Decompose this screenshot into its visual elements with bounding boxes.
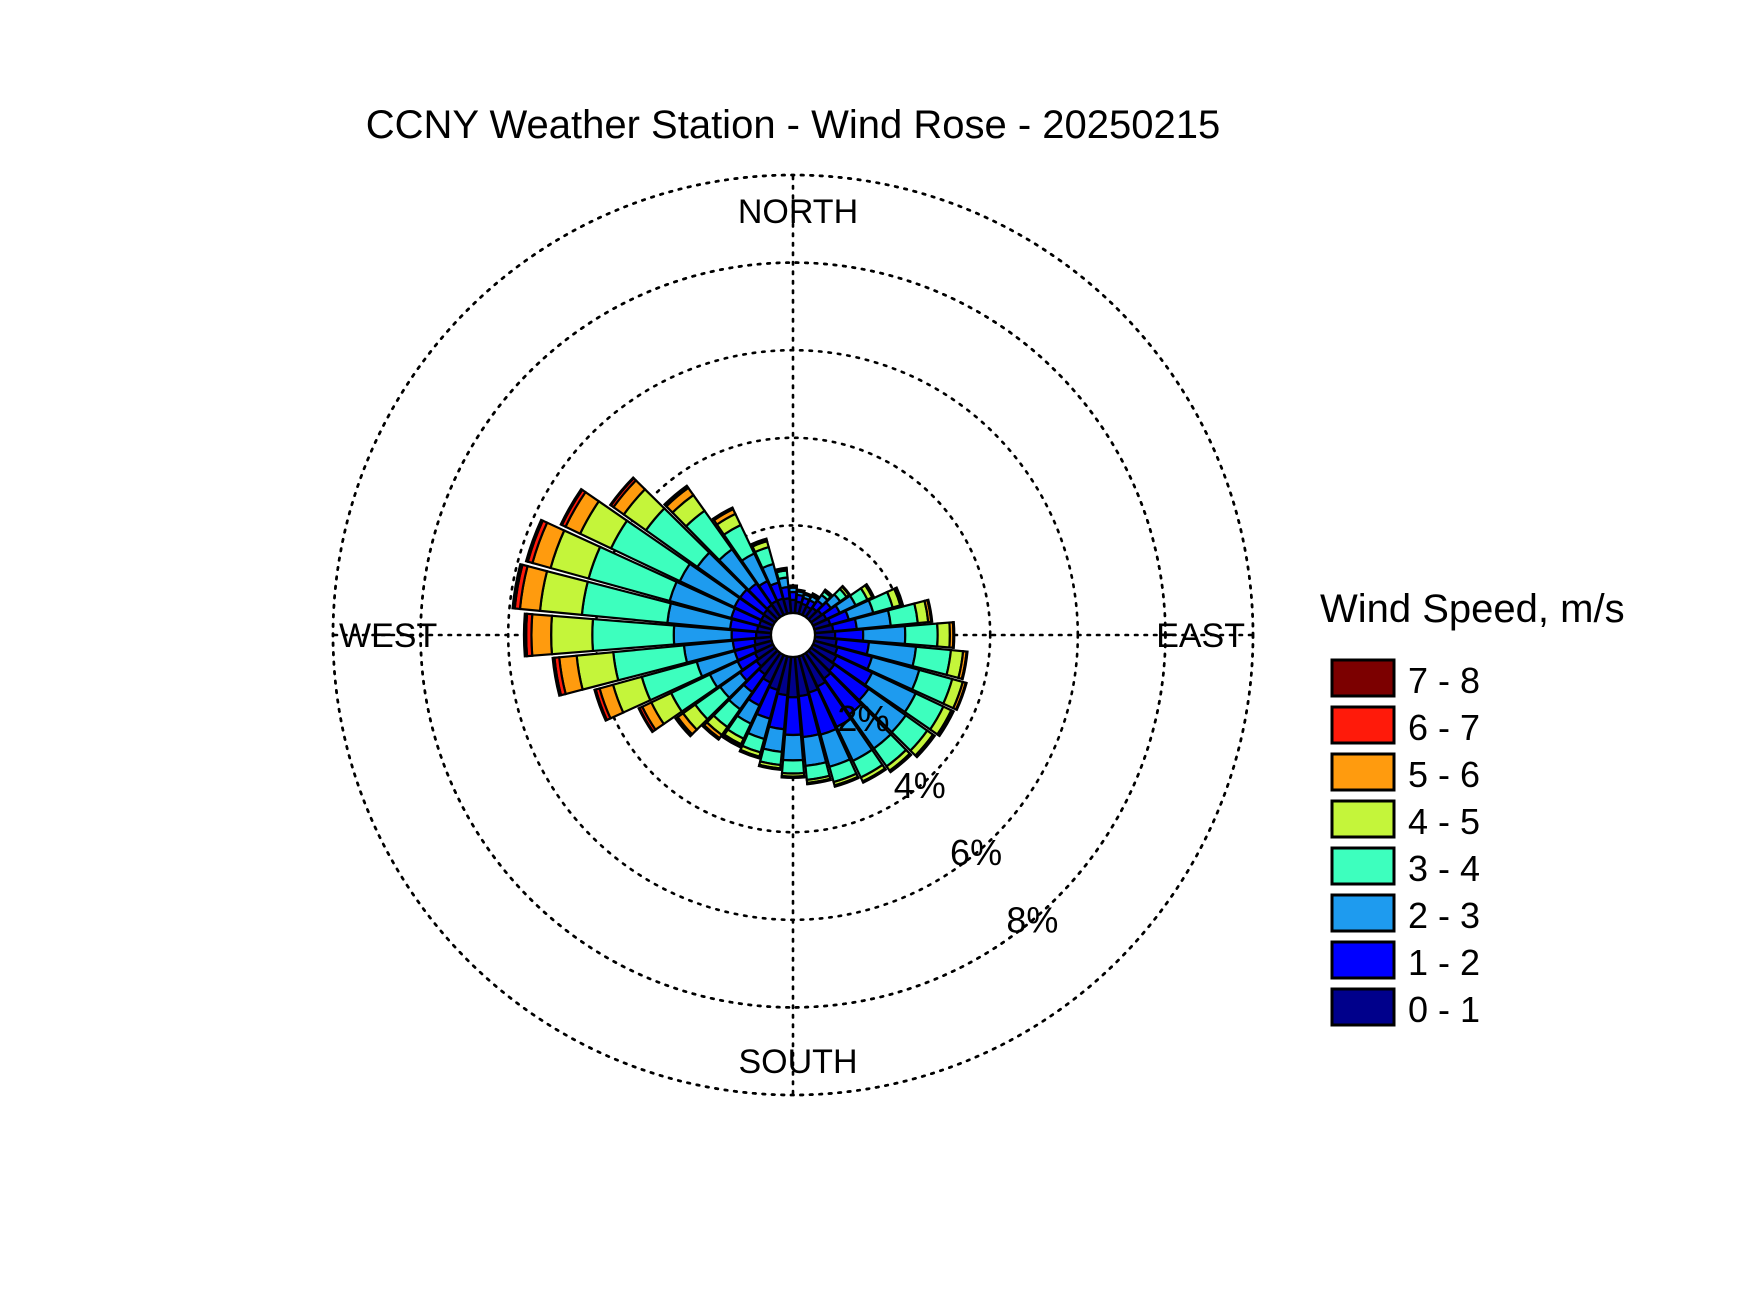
cardinal-label-west: WEST [339,617,437,655]
legend-swatch [1332,707,1394,743]
cardinal-label-north: NORTH [738,193,858,231]
legend-swatch [1332,942,1394,978]
radial-tick-label-4: 8% [1006,899,1058,940]
radial-tick-label-1: 2% [837,698,889,739]
legend-label: 7 - 8 [1408,660,1480,701]
wind-rose-figure: CCNY Weather Station - Wind Rose - 20250… [0,0,1750,1313]
cardinal-label-south: SOUTH [739,1043,858,1081]
legend-label: 4 - 5 [1408,801,1480,842]
legend-label: 6 - 7 [1408,707,1480,748]
polar-center-hub [771,613,815,657]
legend-swatch [1332,801,1394,837]
radial-tick-label-2: 4% [894,765,946,806]
legend-swatch [1332,848,1394,884]
legend-swatch [1332,660,1394,696]
legend-swatch [1332,895,1394,931]
legend-label: 3 - 4 [1408,848,1480,889]
radial-tick-label-3: 6% [950,832,1002,873]
legend-label: 0 - 1 [1408,989,1480,1030]
legend-label: 5 - 6 [1408,754,1480,795]
cardinal-label-east: EAST [1156,617,1245,655]
page-title: CCNY Weather Station - Wind Rose - 20250… [366,103,1221,147]
legend-swatch [1332,754,1394,790]
legend-swatch [1332,989,1394,1025]
legend-title: Wind Speed, m/s [1320,587,1625,631]
legend-label: 2 - 3 [1408,895,1480,936]
legend-label: 1 - 2 [1408,942,1480,983]
figure-canvas: CCNY Weather Station - Wind Rose - 20250… [0,0,1750,1313]
